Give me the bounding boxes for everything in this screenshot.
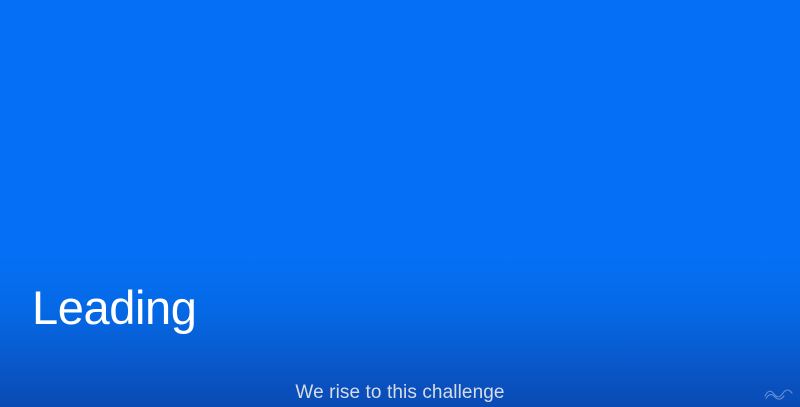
- headline: Leading the transition: [32, 163, 296, 407]
- video-frame: Leading the transition We rise to this c…: [0, 0, 800, 407]
- headline-line-1: Leading: [32, 279, 296, 337]
- subtitle-caption-text: We rise to this challenge: [295, 382, 504, 403]
- wave-mark-icon: [764, 387, 794, 401]
- subtitle-caption: We rise to this challenge: [0, 380, 800, 406]
